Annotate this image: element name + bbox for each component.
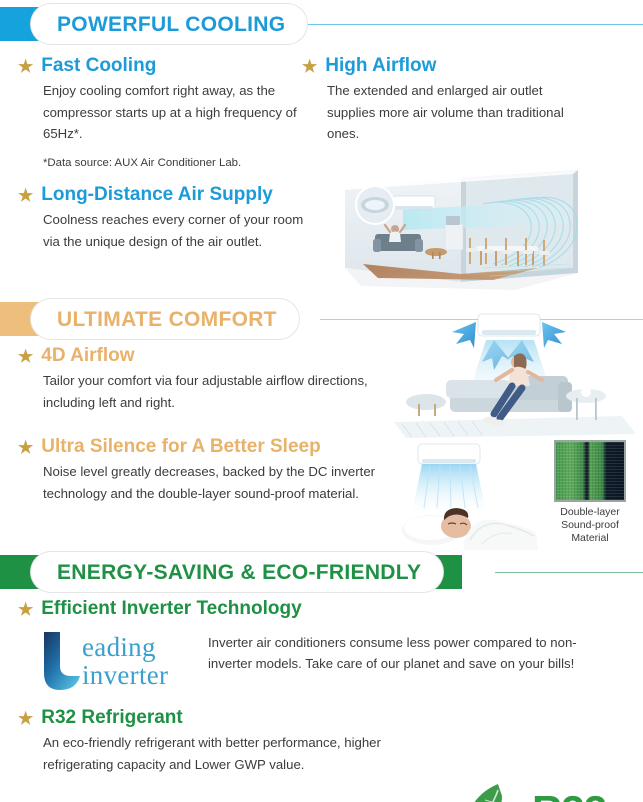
feature-efficient-inverter: ★ Efficient Inverter Technology	[18, 599, 418, 620]
feature-high-airflow: ★ High Airflow The extended and enlarged…	[302, 56, 572, 144]
feature-title: Long-Distance Air Supply	[41, 185, 273, 206]
r32-eco-logo: R32	[440, 778, 615, 802]
material-caption-line2: Sound-proof	[545, 519, 635, 532]
star-icon: ★	[18, 437, 33, 458]
banner-pill: ENERGY-SAVING & ECO-FRIENDLY	[30, 551, 444, 593]
material-swatch-image	[554, 440, 626, 502]
logo-text-leading: eading	[82, 634, 156, 661]
feature-heading: ★ Long-Distance Air Supply	[18, 185, 323, 206]
leading-inverter-l-mark-icon	[36, 630, 82, 692]
section-banner-energy-saving: ENERGY-SAVING & ECO-FRIENDLY	[0, 551, 643, 593]
feature-body: Tailor your comfort via four adjustable …	[43, 370, 395, 413]
quiet-sleep-svg	[400, 438, 540, 550]
feature-title: High Airflow	[325, 56, 436, 77]
section-banner-powerful-cooling: POWERFUL COOLING	[0, 3, 643, 45]
room-air-supply-illustration	[333, 168, 638, 290]
section-title: POWERFUL COOLING	[57, 14, 285, 35]
star-icon: ★	[18, 346, 33, 367]
feature-note: *Data source: AUX Air Conditioner Lab.	[43, 155, 303, 172]
feature-body-efficient-inverter: Inverter air conditioners consume less p…	[208, 632, 608, 675]
feature-body: An eco-friendly refrigerant with better …	[43, 732, 443, 775]
feature-long-distance-air-supply: ★ Long-Distance Air Supply Coolness reac…	[18, 185, 323, 252]
star-icon: ★	[302, 56, 317, 77]
feature-body: Enjoy cooling comfort right away, as the…	[43, 80, 303, 144]
banner-pill: POWERFUL COOLING	[30, 3, 308, 45]
feature-body: Noise level greatly decreases, backed by…	[43, 461, 388, 504]
banner-rule	[268, 24, 643, 25]
green-leaf-icon	[440, 778, 540, 802]
feature-body: Coolness reaches every corner of your ro…	[43, 209, 311, 252]
feature-heading: ★ Efficient Inverter Technology	[18, 599, 418, 620]
feature-ultra-silence: ★ Ultra Silence for A Better Sleep Noise…	[18, 437, 418, 504]
star-icon: ★	[18, 185, 33, 206]
feature-title: 4D Airflow	[41, 346, 134, 367]
star-icon: ★	[18, 599, 33, 620]
sound-proof-material-sample: Double-layer Sound-proof Material	[545, 440, 635, 545]
feature-r32-refrigerant: ★ R32 Refrigerant An eco-friendly refrig…	[18, 708, 438, 775]
feature-4d-airflow: ★ 4D Airflow Tailor your comfort via fou…	[18, 346, 398, 413]
r32-label: R32	[532, 790, 606, 802]
banner-pill: ULTIMATE COMFORT	[30, 298, 300, 340]
sleeping-person-illustration	[400, 438, 540, 550]
living-room-4d-airflow-illustration	[390, 310, 640, 440]
feature-heading: ★ Fast Cooling	[18, 56, 303, 77]
feature-title: Efficient Inverter Technology	[41, 599, 301, 620]
feature-title: R32 Refrigerant	[41, 708, 183, 729]
feature-heading: ★ 4D Airflow	[18, 346, 398, 367]
leading-inverter-logo: eading inverter	[36, 628, 206, 694]
feature-title: Ultra Silence for A Better Sleep	[41, 437, 320, 458]
star-icon: ★	[18, 56, 33, 77]
section-title: ENERGY-SAVING & ECO-FRIENDLY	[57, 562, 421, 583]
material-caption: Double-layer Sound-proof Material	[545, 506, 635, 545]
4d-airflow-svg	[390, 310, 640, 440]
star-icon: ★	[18, 708, 33, 729]
feature-fast-cooling: ★ Fast Cooling Enjoy cooling comfort rig…	[18, 56, 303, 172]
room-illustration-svg	[333, 168, 638, 290]
material-caption-line3: Material	[545, 532, 635, 545]
banner-rule	[495, 572, 643, 573]
feature-title: Fast Cooling	[41, 56, 156, 77]
feature-body: The extended and enlarged air outlet sup…	[327, 80, 572, 144]
product-feature-sheet: POWERFUL COOLING ★ Fast Cooling Enjoy co…	[0, 0, 643, 802]
feature-heading: ★ High Airflow	[302, 56, 572, 77]
feature-heading: ★ R32 Refrigerant	[18, 708, 438, 729]
section-title: ULTIMATE COMFORT	[57, 309, 277, 330]
material-caption-line1: Double-layer	[545, 506, 635, 519]
feature-heading: ★ Ultra Silence for A Better Sleep	[18, 437, 418, 458]
logo-text-inverter: inverter	[82, 662, 168, 689]
